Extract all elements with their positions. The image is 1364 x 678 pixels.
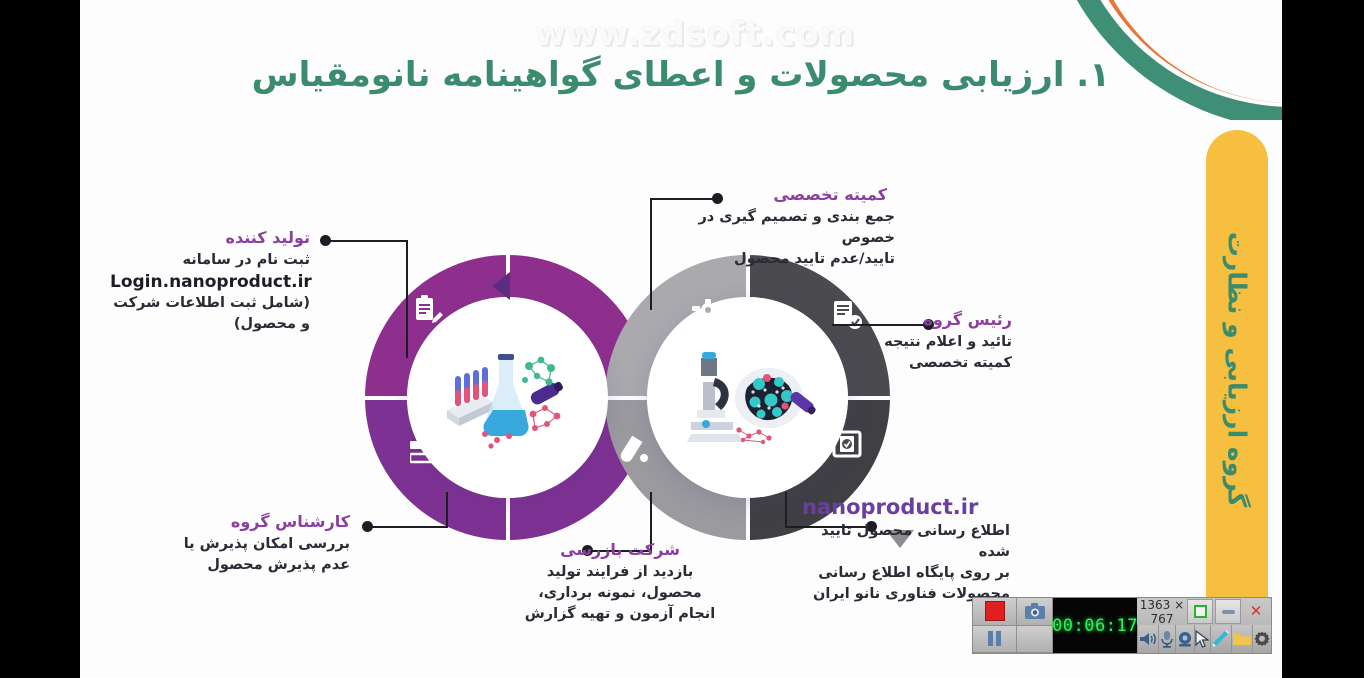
side-tab-label: گروه ارزیابی و نظارت [1223,231,1252,507]
capture-dimensions: 1363 × 767 [1137,598,1187,626]
recording-timer: 00:06:17 [1053,598,1137,653]
callout-nanoproduct-line-2: بر روی پایگاه اطلاع رسانی [800,563,1010,584]
gear-icon[interactable] [1252,625,1271,653]
gear-network-icon [690,288,726,322]
minimize-window-button[interactable] [1215,599,1241,624]
screenshot-button[interactable] [1017,598,1053,626]
callout-producer: تولید کننده ثبت نام در سامانه Login.nano… [110,228,310,335]
presentation-slide: www.zdsoft.com ۱. ارزیابی محصولات و اعطا… [80,0,1282,678]
zdsoft-watermark: www.zdsoft.com [535,14,855,53]
connector-line [368,526,448,528]
folder-icon[interactable] [1231,625,1252,653]
callout-inspection-company: شرکت بازرسی بازدید از فرایند تولید محصول… [520,540,720,625]
callout-group-head-heading: رئیس گروه [842,310,1012,329]
callout-nanoproduct-heading: nanoproduct.ir [800,495,1010,519]
callout-group-expert-heading: کارشناس گروه [170,512,350,531]
checklist-icon [410,438,444,468]
test-tube-icon [617,435,649,469]
webcam-icon[interactable] [1175,625,1194,653]
connector-line [446,492,448,528]
callout-inspection-company-line-3: انجام آزمون و تهیه گزارش [520,604,720,625]
camera-icon [1025,603,1045,619]
ring-gap [846,396,890,400]
ring-gap [746,496,750,540]
report-check-icon [832,430,864,462]
callout-inspection-company-heading: شرکت بازرسی [520,540,720,559]
callout-group-expert-line-2: عدم پذیرش محصول [170,555,350,576]
restore-icon [1194,605,1207,618]
callout-group-expert: کارشناس گروه بررسی امکان پذیرش یا عدم پذ… [170,512,350,576]
connector-line [326,240,408,242]
callout-inspection-company-line-2: محصول، نمونه برداری، [520,583,720,604]
callout-producer-heading: تولید کننده [110,228,310,247]
callout-nanoproduct-line-1: اطلاع رسانی محصول تایید شده [800,521,1010,563]
callout-group-head-line-2: کمیته تخصصی [842,353,1012,374]
recorder-tool-row [1137,625,1271,653]
cursor-icon[interactable] [1194,625,1211,653]
pause-recording-button[interactable] [973,626,1017,654]
close-window-button[interactable]: ✕ [1243,599,1269,624]
callout-producer-line-2: (شامل ثبت اطلاعات شرکت و محصول) [110,293,310,335]
recorder-transport-controls [973,598,1017,653]
screen-recording-frame: www.zdsoft.com ۱. ارزیابی محصولات و اعطا… [0,0,1364,678]
callout-group-expert-line-1: بررسی امکان پذیرش یا [170,534,350,555]
callout-specialized-committee-line-1: جمع بندی و تصمیم گیری در خصوص [645,207,895,249]
connector-line [406,240,408,358]
callout-inspection-company-line-1: بازدید از فرایند تولید [520,562,720,583]
callout-producer-url: Login.nanoproduct.ir [110,272,310,292]
marker-icon[interactable] [1210,625,1231,653]
pause-icon [988,631,1001,646]
close-icon: ✕ [1250,604,1263,619]
restore-window-button[interactable] [1187,599,1213,624]
connector-line [785,492,787,528]
capture-secondary-button[interactable] [1017,626,1053,654]
recorder-right-panel: 1363 × 767 ✕ [1137,598,1271,653]
letterbox-bar-left [0,0,80,678]
callout-group-head-line-1: تائید و اعلام نتیجه [842,332,1012,353]
ring-gap [506,496,510,540]
callout-nanoproduct: nanoproduct.ir اطلاع رسانی محصول تایید ش… [800,495,1010,605]
connector-dot [320,235,331,246]
process-diagram: تولید کننده ثبت نام در سامانه Login.nano… [80,140,1080,660]
ring-gap [365,396,409,400]
right-center-illustration [647,297,848,498]
connector-dot [362,521,373,532]
side-tab-label-wrapper: گروه ارزیابی و نظارت [1206,130,1268,608]
clipboard-pen-icon [413,295,443,327]
stop-icon [985,601,1005,621]
lab-flask-illustration [433,338,583,458]
callout-specialized-committee-line-2: تایید/عدم تایید محصول [645,249,895,270]
stop-recording-button[interactable] [973,598,1017,626]
recorder-title-row: 1363 × 767 ✕ [1137,598,1271,625]
recorder-capture-controls [1017,598,1053,653]
ring-gap [605,396,649,400]
microscope-illustration [673,338,823,458]
microphone-icon[interactable] [1158,625,1175,653]
callout-group-head: رئیس گروه تائید و اعلام نتیجه کمیته تخصص… [842,310,1012,374]
minimize-icon [1222,610,1235,614]
letterbox-bar-right [1282,0,1364,678]
callout-specialized-committee: کمیته تخصصی جمع بندی و تصمیم گیری در خصو… [645,185,895,270]
speaker-icon[interactable] [1137,625,1158,653]
slide-title: ۱. ارزیابی محصولات و اعطای گواهینامه نان… [252,55,1110,95]
arrow-left-icon [492,272,510,300]
screen-recorder-toolbar: 00:06:17 1363 × 767 ✕ [972,597,1272,654]
callout-producer-line-1: ثبت نام در سامانه [110,250,310,271]
callout-specialized-committee-heading: کمیته تخصصی [645,185,895,204]
